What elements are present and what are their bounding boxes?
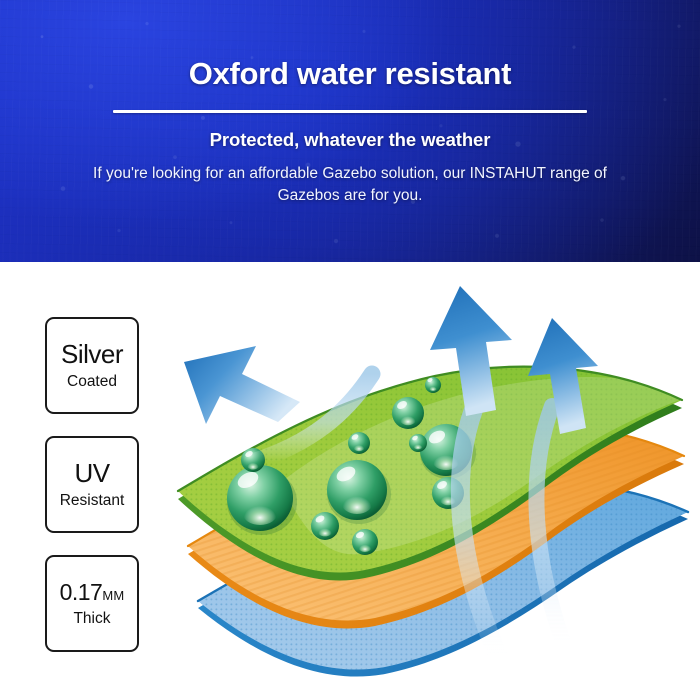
water-droplet (352, 529, 378, 555)
fabric-layers-illustration (160, 278, 700, 690)
header-body-text: If you're looking for an affordable Gaze… (85, 163, 615, 207)
water-droplet (392, 397, 424, 429)
water-droplet (348, 432, 370, 454)
water-droplet (425, 377, 441, 393)
feature-badge-unit: MM (102, 588, 124, 603)
product-feature-infographic: Oxford water resistant Protected, whatev… (0, 0, 700, 700)
water-droplet (409, 434, 427, 452)
feature-badge-silver-coated: Silver Coated (45, 317, 139, 414)
feature-badge-title: UV (74, 460, 109, 486)
feature-badge-title: Silver (61, 341, 123, 367)
feature-badge-thickness: 0.17MM Thick (45, 555, 139, 652)
airflow-arrow-left (184, 346, 300, 424)
title-divider (113, 110, 587, 113)
header-subtitle: Protected, whatever the weather (210, 129, 491, 151)
feature-badge-value: 0.17 (60, 579, 103, 605)
feature-badge-uv-resistant: UV Resistant (45, 436, 139, 533)
water-droplet (311, 512, 339, 540)
header-banner: Oxford water resistant Protected, whatev… (0, 0, 700, 262)
feature-badge-subtitle: Resistant (60, 493, 125, 509)
page-title: Oxford water resistant (189, 58, 511, 89)
feature-badge-subtitle: Coated (67, 374, 117, 390)
feature-badge-subtitle: Thick (73, 611, 110, 627)
feature-badge-title: 0.17MM (60, 581, 125, 604)
